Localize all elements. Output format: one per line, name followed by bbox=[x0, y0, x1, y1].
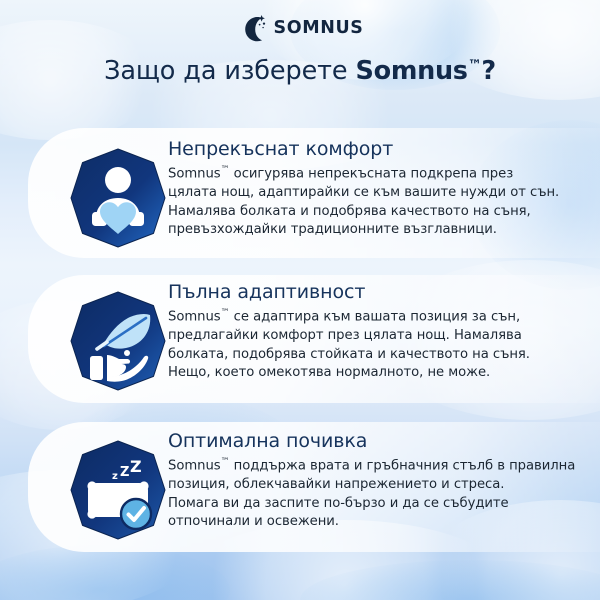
person-holding-heart-icon bbox=[66, 146, 170, 250]
feature-body: Somnus™ поддържа врата и гръбначния стъл… bbox=[168, 453, 568, 532]
feature-body: Somnus™ осигурява непрекъсната подкрепа … bbox=[168, 161, 568, 240]
feature-line: болката, подобрява стойката и качеството… bbox=[168, 346, 568, 365]
brand-logo: SOMNUS bbox=[0, 0, 600, 43]
z-large: Z bbox=[130, 457, 142, 476]
z-small: z bbox=[112, 471, 118, 482]
feature-line: отпочинали и освежени. bbox=[168, 513, 568, 532]
feature-text: Оптимална почивка Somnus™ поддържа врата… bbox=[168, 430, 568, 532]
feature-title: Пълна адаптивност bbox=[168, 281, 568, 303]
trademark-symbol: ™ bbox=[221, 165, 230, 175]
feature-text: Непрекъснат комфорт Somnus™ осигурява не… bbox=[168, 138, 568, 240]
feature-line: предлагайки комфорт през цялата нощ. Нам… bbox=[168, 327, 568, 346]
trademark-symbol: ™ bbox=[221, 457, 230, 467]
trademark-symbol: ™ bbox=[221, 308, 230, 318]
hand-holding-feather-icon bbox=[66, 289, 170, 393]
page-title: Защо да изберете Somnus™? bbox=[0, 56, 600, 86]
feature-line: превъзхождайки традиционните възглавници… bbox=[168, 221, 568, 240]
header: SOMNUS Защо да изберете Somnus™? bbox=[0, 0, 600, 86]
feature-title: Оптимална почивка bbox=[168, 430, 568, 452]
brand-inline: Somnus bbox=[168, 309, 221, 324]
trademark-symbol: ™ bbox=[468, 58, 482, 74]
cloud-wisp bbox=[0, 545, 230, 600]
pillow-sleep-check-icon: z Z Z bbox=[66, 438, 170, 542]
feature-line: Намалява болката и подобрява качеството … bbox=[168, 203, 568, 222]
page-title-brand: Somnus bbox=[356, 56, 468, 86]
feature-line: позиция, облекчавайки напрежението и стр… bbox=[168, 476, 568, 495]
feature-line: поддържа врата и гръбначния стълб в прав… bbox=[230, 458, 576, 473]
brand-inline: Somnus bbox=[168, 458, 221, 473]
feature-line: цялата нощ, адаптирайки се към вашите ну… bbox=[168, 184, 568, 203]
infographic-canvas: SOMNUS Защо да изберете Somnus™? Непрекъ… bbox=[0, 0, 600, 600]
brand-inline: Somnus bbox=[168, 166, 221, 181]
feature-card: z Z Z Оптимална почивка Somnus™ поддържа… bbox=[28, 422, 600, 552]
page-title-suffix: ? bbox=[481, 56, 496, 86]
z-medium: Z bbox=[120, 465, 129, 480]
feature-line: Помага ви да заспите по-бързо и да се съ… bbox=[168, 495, 568, 514]
page-title-prefix: Защо да изберете bbox=[104, 56, 355, 86]
feature-line: Нещо, което омекотява нормалното, не мож… bbox=[168, 364, 568, 383]
feature-body: Somnus™ се адаптира към вашата позиция з… bbox=[168, 304, 568, 383]
feature-title: Непрекъснат комфорт bbox=[168, 138, 568, 160]
feature-line: осигурява непрекъсната подкрепа през bbox=[230, 166, 514, 181]
feature-line: се адаптира към вашата позиция за сън, bbox=[230, 309, 521, 324]
cloud-wisp bbox=[300, 560, 600, 600]
feature-card: Пълна адаптивност Somnus™ се адаптира къ… bbox=[28, 275, 600, 403]
brand-wordmark: SOMNUS bbox=[274, 18, 364, 38]
feature-card: Непрекъснат комфорт Somnus™ осигурява не… bbox=[28, 128, 600, 258]
feature-text: Пълна адаптивност Somnus™ се адаптира къ… bbox=[168, 281, 568, 383]
crescent-moon-stars-icon bbox=[237, 15, 267, 42]
